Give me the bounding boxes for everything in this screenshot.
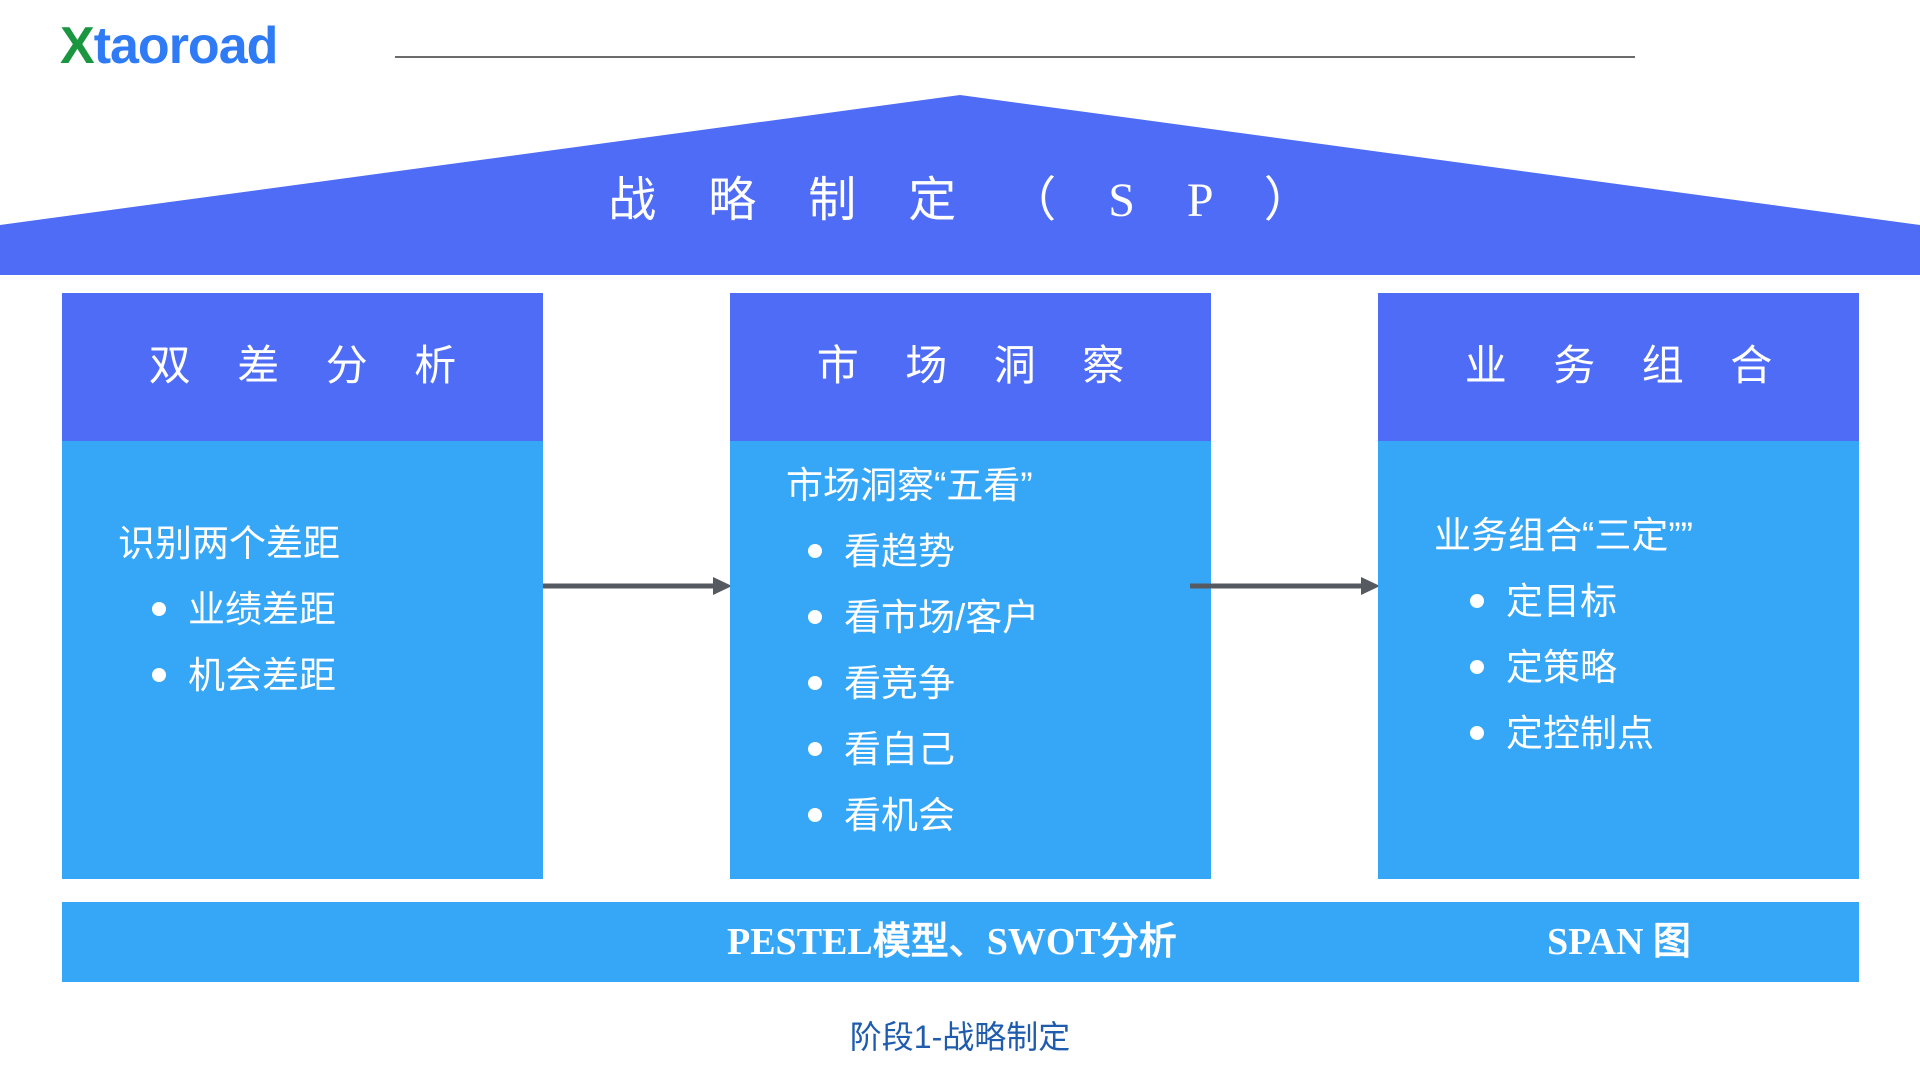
pillar-lead-text: 识别两个差距 — [62, 521, 543, 567]
list-item-label: 定策略 — [1506, 647, 1617, 688]
list-item-label: 看自己 — [844, 729, 955, 770]
bullet-dot-icon — [808, 610, 822, 624]
list-item-label: 看竞争 — [844, 663, 955, 704]
pillar-gap-analysis: 双 差 分 析 识别两个差距 业绩差距 机会差距 — [62, 293, 543, 879]
list-item-label: 定控制点 — [1506, 713, 1654, 754]
header-bar: Xtaoroad — [0, 0, 1920, 92]
brand-logo: Xtaoroad — [60, 16, 277, 76]
pillar-header-label: 业 务 组 合 — [1447, 342, 1791, 392]
list-item: 看趋势 — [808, 519, 1211, 585]
foundation-bar: PESTEL模型、SWOT分析 SPAN 图 — [62, 902, 1859, 982]
pillar-header-label: 双 差 分 析 — [131, 342, 475, 392]
bullet-dot-icon — [808, 544, 822, 558]
bullet-dot-icon — [1470, 660, 1484, 674]
pillar-header-gap-analysis: 双 差 分 析 — [62, 293, 543, 441]
pillar-bullet-list: 业绩差距 机会差距 — [62, 577, 543, 709]
bullet-dot-icon — [1470, 594, 1484, 608]
roof-title: 战 略 制 定 （ S P ） — [0, 172, 1920, 230]
pillar-business-portfolio: 业 务 组 合 业务组合“三定”” 定目标 定策略 定控制点 — [1378, 293, 1859, 879]
pillar-market-insight: 市 场 洞 察 市场洞察“五看” 看趋势 看市场/客户 看竞争 看自己 看机会 — [730, 293, 1211, 879]
logo-wordmark: taoroad — [94, 17, 278, 75]
list-item-label: 看机会 — [844, 795, 955, 836]
list-item: 定策略 — [1470, 635, 1859, 701]
slide-caption: 阶段1-战略制定 — [0, 1016, 1920, 1058]
list-item-label: 定目标 — [1506, 581, 1617, 622]
list-item: 看市场/客户 — [808, 585, 1211, 651]
pillar-header-business-portfolio: 业 务 组 合 — [1378, 293, 1859, 441]
foundation-label-tools: PESTEL模型、SWOT分析 — [727, 902, 1177, 982]
list-item: 定控制点 — [1470, 701, 1859, 767]
arrow-gap-to-insight — [543, 573, 732, 599]
list-item-label: 看市场/客户 — [844, 597, 1039, 638]
foundation-label-span: SPAN 图 — [1547, 902, 1691, 982]
bullet-dot-icon — [808, 742, 822, 756]
list-item: 业绩差距 — [152, 577, 543, 643]
pillar-body-market-insight: 市场洞察“五看” 看趋势 看市场/客户 看竞争 看自己 看机会 — [730, 441, 1211, 879]
bullet-dot-icon — [152, 668, 166, 682]
pillar-body-gap-analysis: 识别两个差距 业绩差距 机会差距 — [62, 441, 543, 879]
pillar-body-business-portfolio: 业务组合“三定”” 定目标 定策略 定控制点 — [1378, 441, 1859, 879]
pillar-header-label: 市 场 洞 察 — [799, 342, 1143, 392]
list-item: 定目标 — [1470, 569, 1859, 635]
list-item: 看自己 — [808, 717, 1211, 783]
bullet-dot-icon — [152, 602, 166, 616]
list-item: 看机会 — [808, 783, 1211, 849]
bullet-dot-icon — [808, 676, 822, 690]
bullet-dot-icon — [1470, 726, 1484, 740]
arrow-insight-to-portfolio — [1190, 573, 1380, 599]
list-item-label: 看趋势 — [844, 531, 955, 572]
pillar-header-market-insight: 市 场 洞 察 — [730, 293, 1211, 441]
pillar-lead-text: 市场洞察“五看” — [730, 463, 1211, 509]
list-item-label: 业绩差距 — [188, 589, 336, 630]
logo-initial: X — [60, 17, 94, 75]
header-divider-line — [395, 56, 1635, 58]
list-item: 机会差距 — [152, 643, 543, 709]
list-item-label: 机会差距 — [188, 655, 336, 696]
pillar-lead-text: 业务组合“三定”” — [1378, 513, 1859, 559]
list-item: 看竞争 — [808, 651, 1211, 717]
pillar-bullet-list: 定目标 定策略 定控制点 — [1378, 569, 1859, 767]
pillar-bullet-list: 看趋势 看市场/客户 看竞争 看自己 看机会 — [730, 519, 1211, 849]
bullet-dot-icon — [808, 808, 822, 822]
